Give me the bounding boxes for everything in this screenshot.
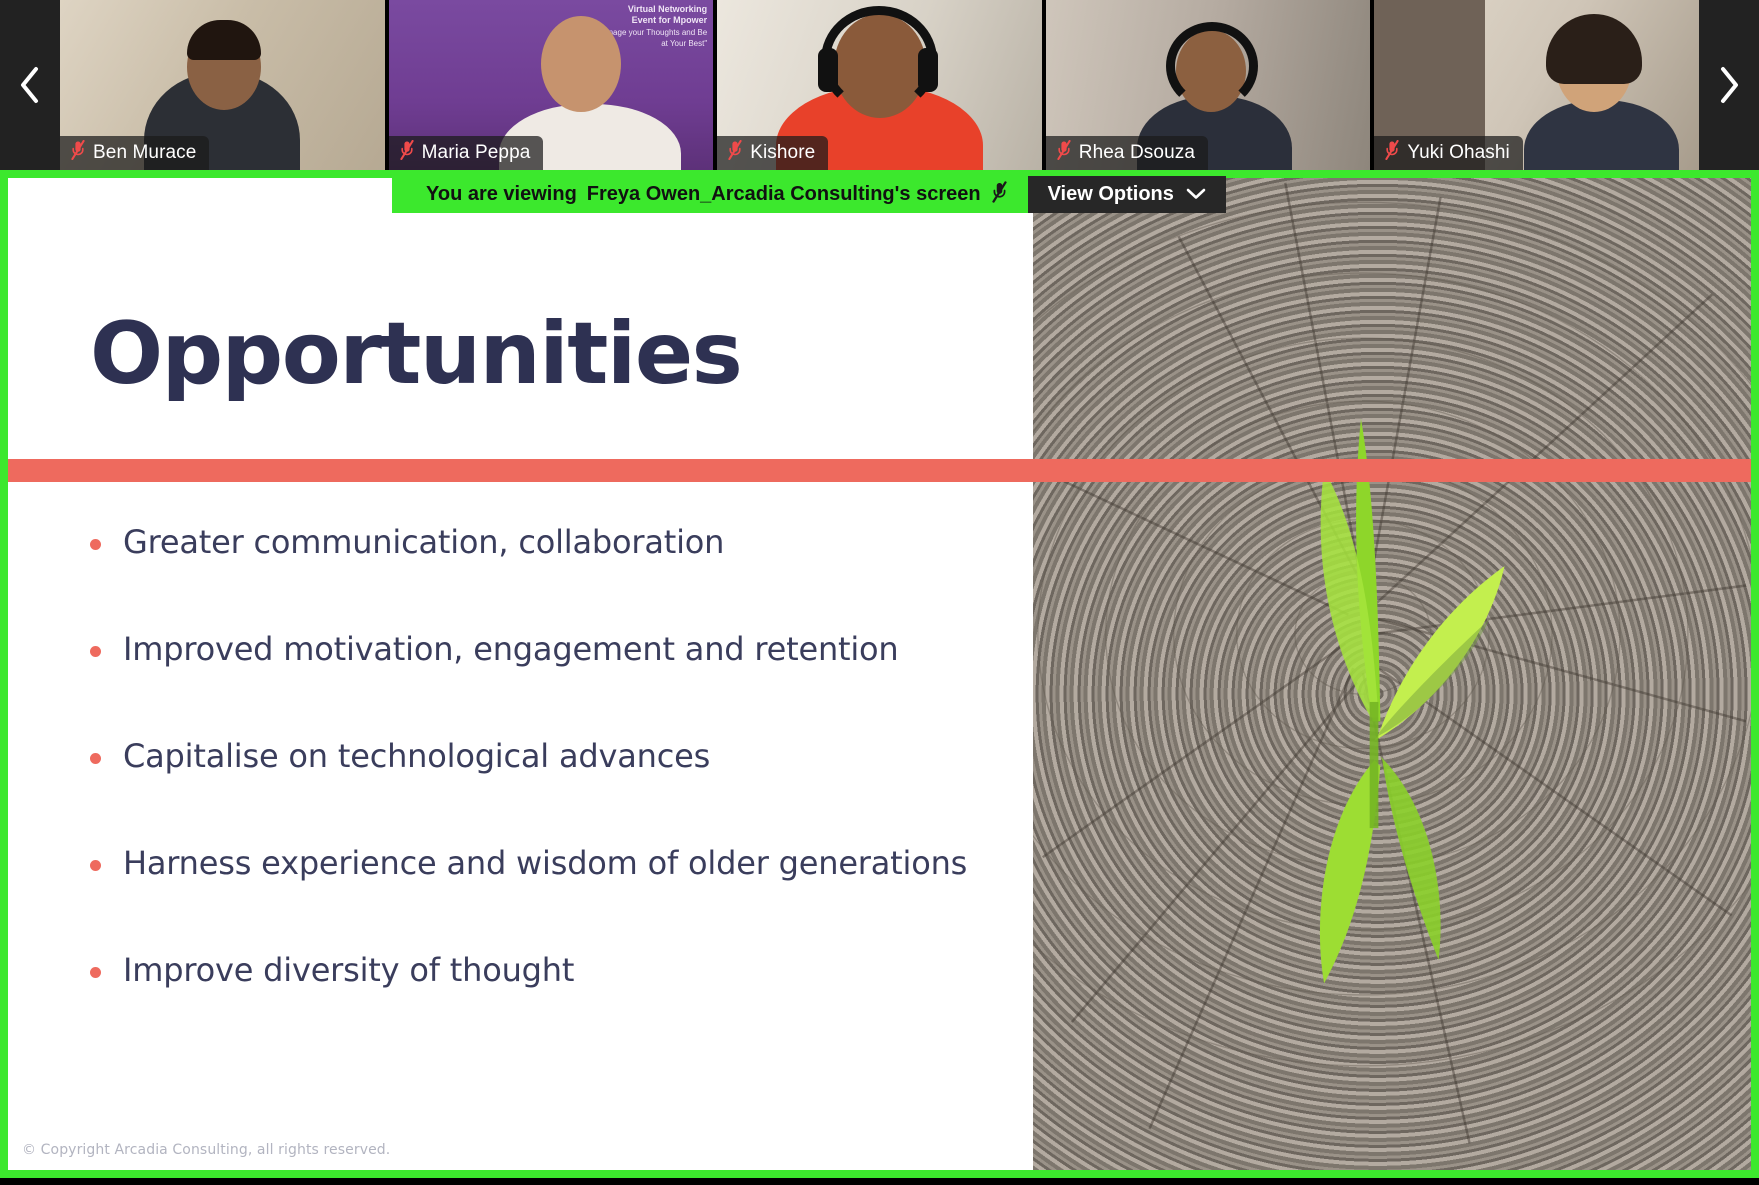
mic-muted-icon [1056, 140, 1072, 166]
bullet-text: Improve diversity of thought [123, 950, 574, 990]
slide-title: Opportunities [90, 304, 741, 404]
shared-screen-area: Opportunities Greater communication, col… [0, 170, 1759, 1178]
mic-muted-icon [727, 140, 743, 166]
chevron-left-icon [16, 63, 44, 107]
participant-filmstrip: Ben Murace Virtual NetworkingEvent for M… [0, 0, 1759, 170]
bullet-dot-icon [90, 539, 101, 550]
screen-share-banner: You are viewing Freya Owen_Arcadia Consu… [392, 176, 1226, 213]
participant-tile[interactable]: Yuki Ohashi [1374, 0, 1699, 170]
bullet-dot-icon [90, 967, 101, 978]
participant-name: Kishore [750, 142, 815, 164]
slide-bullet-list: Greater communication, collaboration Imp… [90, 522, 990, 1057]
list-item: Harness experience and wisdom of older g… [90, 843, 990, 950]
participant-name: Maria Peppa [422, 142, 531, 164]
mic-muted-icon [399, 140, 415, 166]
participant-name: Yuki Ohashi [1407, 142, 1510, 164]
mic-muted-icon [1384, 140, 1400, 166]
bullet-text: Harness experience and wisdom of older g… [123, 843, 967, 883]
presenter-name-label: Freya Owen_Arcadia Consulting's screen [587, 183, 981, 206]
view-options-button[interactable]: View Options [1028, 176, 1226, 213]
mic-muted-icon [991, 181, 1008, 209]
bullet-dot-icon [90, 646, 101, 657]
bullet-dot-icon [90, 753, 101, 764]
list-item: Capitalise on technological advances [90, 736, 990, 843]
participant-tiles: Ben Murace Virtual NetworkingEvent for M… [60, 0, 1699, 170]
bullet-text: Capitalise on technological advances [123, 736, 710, 776]
participant-name-chip: Yuki Ohashi [1374, 136, 1523, 170]
slide-copyright-footer: © Copyright Arcadia Consulting, all righ… [22, 1142, 390, 1158]
list-item: Greater communication, collaboration [90, 522, 990, 629]
filmstrip-next-button[interactable] [1699, 0, 1759, 170]
view-options-label: View Options [1048, 183, 1174, 206]
participant-name-chip: Rhea Dsouza [1046, 136, 1208, 170]
slide-image-panel [1033, 178, 1751, 1170]
mic-muted-icon [70, 140, 86, 166]
chevron-right-icon [1715, 63, 1743, 107]
slide-content-panel: Opportunities Greater communication, col… [8, 178, 1033, 1170]
participant-name-chip: Maria Peppa [389, 136, 544, 170]
filmstrip-prev-button[interactable] [0, 0, 60, 170]
viewing-notice: You are viewing Freya Owen_Arcadia Consu… [392, 176, 1028, 213]
bullet-text: Greater communication, collaboration [123, 522, 724, 562]
participant-tile[interactable]: Virtual NetworkingEvent for Mpower "Mana… [389, 0, 714, 170]
presentation-slide: Opportunities Greater communication, col… [8, 178, 1751, 1170]
green-sprout-illustration [1033, 178, 1751, 1148]
participant-name-chip: Ben Murace [60, 136, 209, 170]
participant-tile[interactable]: Ben Murace [60, 0, 385, 170]
participant-name-chip: Kishore [717, 136, 828, 170]
viewing-prefix-label: You are viewing [426, 183, 577, 206]
list-item: Improved motivation, engagement and rete… [90, 629, 990, 736]
chevron-down-icon [1186, 183, 1206, 206]
participant-tile[interactable]: Kishore [717, 0, 1042, 170]
participant-name: Rhea Dsouza [1079, 142, 1195, 164]
bullet-text: Improved motivation, engagement and rete… [123, 629, 899, 669]
list-item: Improve diversity of thought [90, 950, 990, 1057]
slide-accent-divider [8, 459, 1759, 482]
participant-name: Ben Murace [93, 142, 196, 164]
bullet-dot-icon [90, 860, 101, 871]
participant-tile[interactable]: Rhea Dsouza [1046, 0, 1371, 170]
zoom-meeting-window: Ben Murace Virtual NetworkingEvent for M… [0, 0, 1759, 1185]
